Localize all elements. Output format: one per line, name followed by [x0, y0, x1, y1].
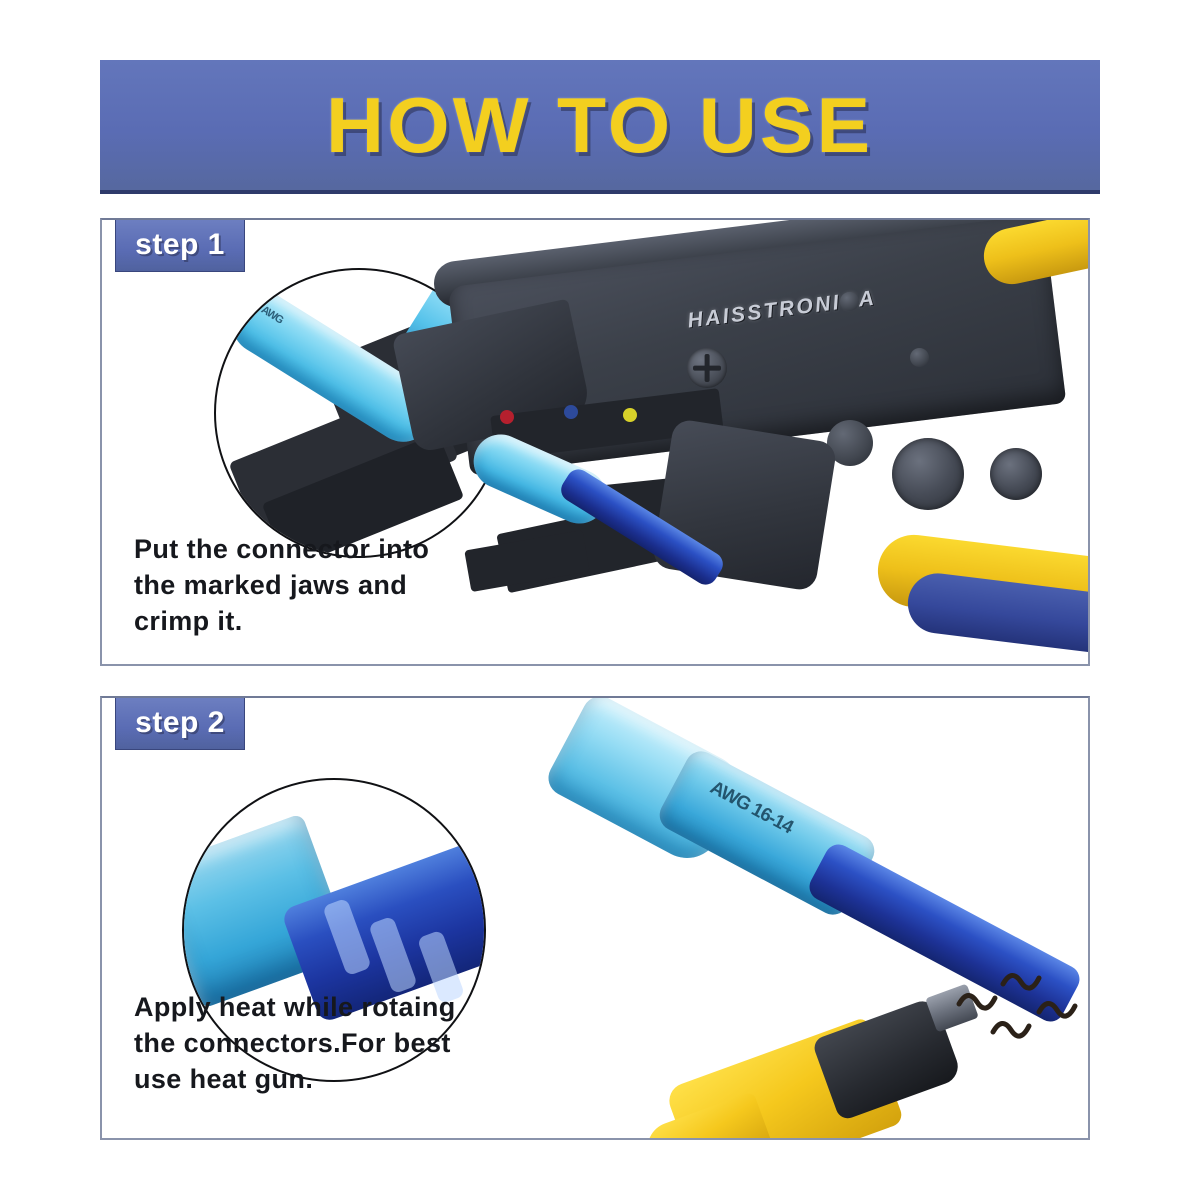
- ratchet-pin-icon: [990, 448, 1042, 500]
- ratchet-gear-icon: [892, 438, 964, 510]
- step-1-badge: step 1: [115, 218, 245, 272]
- bolt-icon-1: [840, 292, 859, 311]
- step-1-caption: Put the connector into the marked jaws a…: [134, 532, 554, 640]
- step-2-badge: step 2: [115, 696, 245, 750]
- step-2-panel: step 2 AWG 16-14 Appl: [100, 696, 1090, 1140]
- bolt-icon-2: [910, 348, 929, 367]
- step-2-badge-label: step 2: [135, 706, 225, 740]
- page-title: HOW TO USE: [326, 80, 873, 171]
- yellow-gauge-dot-icon: [623, 408, 637, 422]
- step-2-caption: Apply heat while rotaing the connectors.…: [134, 990, 564, 1098]
- step-1-panel: step 1 AWG HAISSTRONICA: [100, 218, 1090, 666]
- step-1-badge-label: step 1: [135, 228, 225, 262]
- blue-gauge-dot-icon: [564, 405, 578, 419]
- banner: HOW TO USE: [100, 60, 1100, 194]
- how-to-use-infographic: HOW TO USE step 1 AWG HAISSTRONICA: [0, 0, 1200, 1200]
- red-gauge-dot-icon: [500, 410, 514, 424]
- phillips-screw-icon: [687, 348, 727, 388]
- heat-wave-icon: [947, 956, 1090, 1076]
